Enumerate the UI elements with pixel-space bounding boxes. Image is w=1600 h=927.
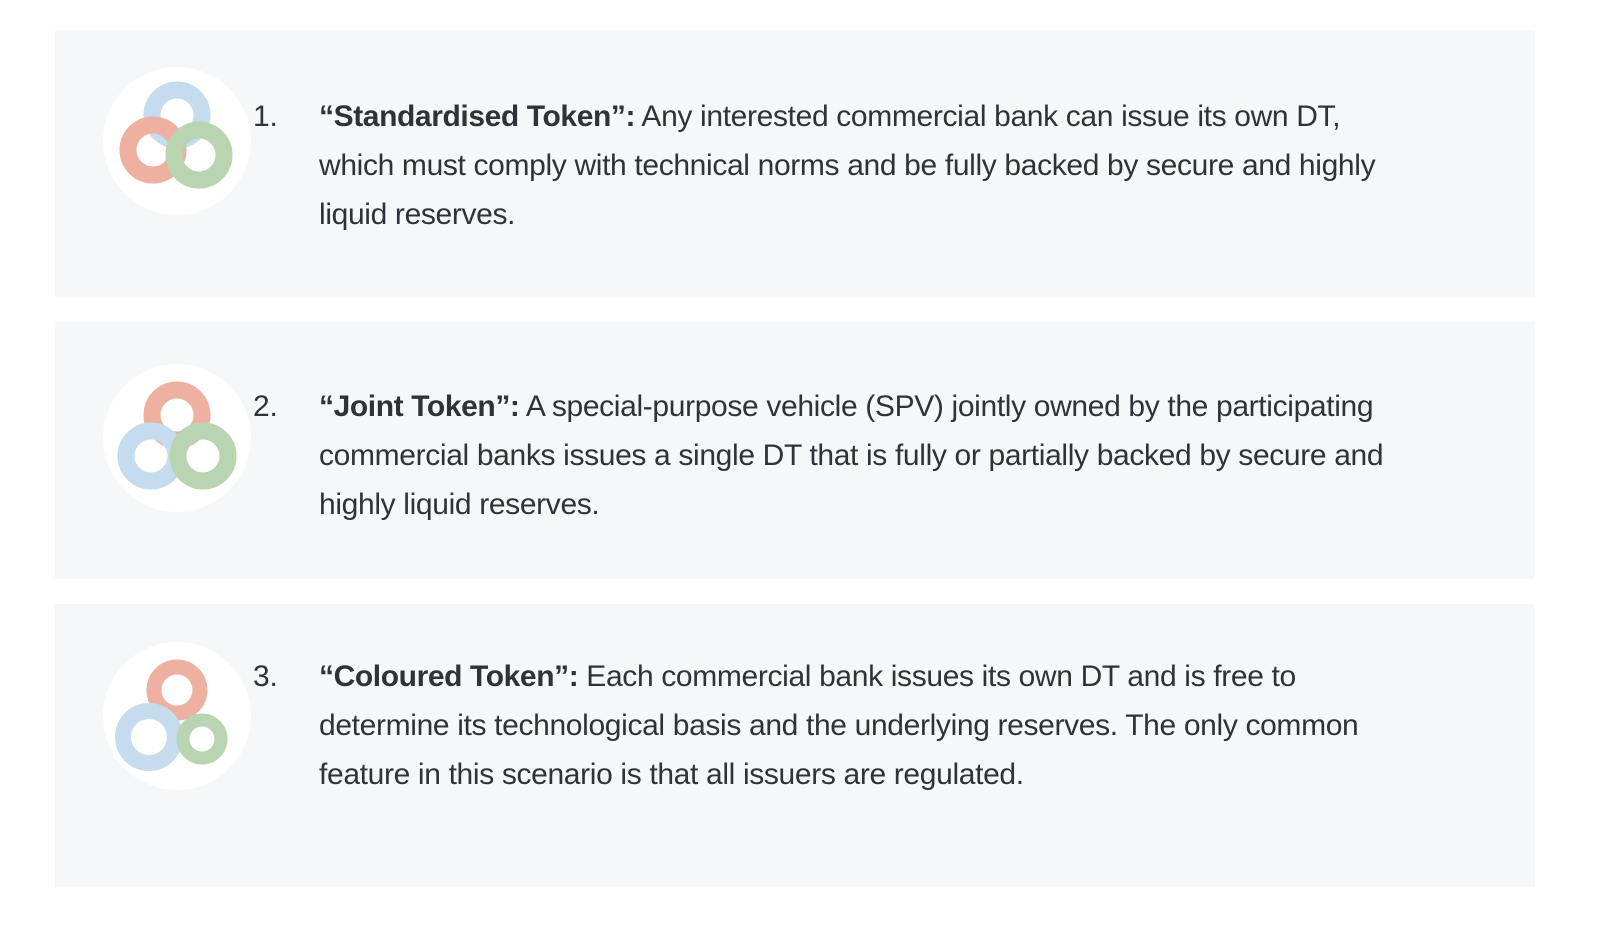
- three-interlocking-rings-icon: [103, 67, 251, 215]
- card-body: 3. “Coloured Token”: Each commercial ban…: [253, 604, 1535, 799]
- list-item-text: “Standardised Token”: Any interested com…: [319, 92, 1409, 239]
- list-item-text: “Coloured Token”: Each commercial bank i…: [319, 652, 1409, 799]
- list-item: 1. “Standardised Token”: Any interested …: [55, 30, 1535, 297]
- list-item-number: 1.: [253, 92, 319, 239]
- list-item-number: 3.: [253, 652, 319, 799]
- three-touching-rings-icon: [103, 364, 251, 512]
- list-item-lead: “Coloured Token”:: [319, 660, 578, 693]
- icon-container: [55, 604, 253, 790]
- card-body: 1. “Standardised Token”: Any interested …: [253, 30, 1535, 239]
- card-body: 2. “Joint Token”: A special-purpose vehi…: [253, 322, 1535, 529]
- list-item-number: 2.: [253, 382, 319, 529]
- icon-container: [55, 322, 253, 512]
- list-item-lead: “Standardised Token”:: [319, 100, 635, 133]
- icon-container: [55, 30, 253, 215]
- token-scenario-list: 1. “Standardised Token”: Any interested …: [55, 30, 1535, 887]
- list-item-lead: “Joint Token”:: [319, 390, 520, 423]
- page-root: 1. “Standardised Token”: Any interested …: [0, 0, 1600, 927]
- three-separate-rings-icon: [103, 642, 251, 790]
- list-item: 2. “Joint Token”: A special-purpose vehi…: [55, 322, 1535, 579]
- list-item-text: “Joint Token”: A special-purpose vehicle…: [319, 382, 1409, 529]
- list-item: 3. “Coloured Token”: Each commercial ban…: [55, 604, 1535, 887]
